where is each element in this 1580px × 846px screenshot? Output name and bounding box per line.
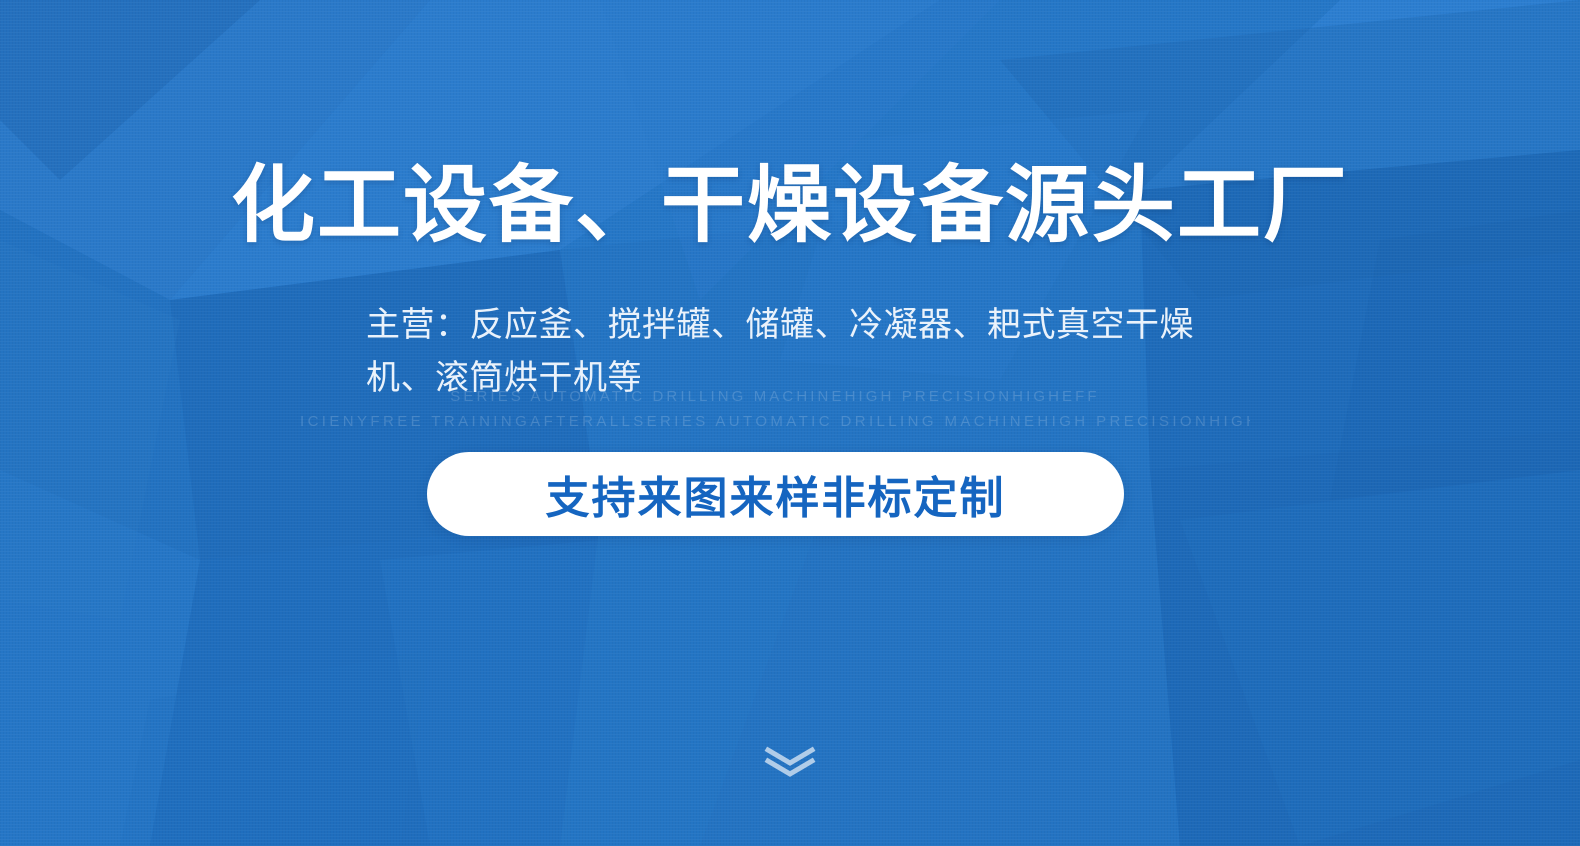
watermark-line-2: ICIENYFREE TRAININGAFTERALLSERIES AUTOMA… — [300, 409, 1250, 434]
page-title: 化工设备、干燥设备源头工厂 — [0, 160, 1580, 251]
banner-content: 化工设备、干燥设备源头工厂 主营：反应釜、搅拌罐、储罐、冷凝器、耙式真空干燥机、… — [0, 0, 1580, 846]
banner-subtitle: 主营：反应釜、搅拌罐、储罐、冷凝器、耙式真空干燥机、滚筒烘干机等 — [366, 299, 1216, 404]
chevron-double-down-icon — [764, 746, 816, 778]
custom-order-cta-button[interactable]: 支持来图来样非标定制 — [427, 452, 1124, 536]
hero-banner: 化工设备、干燥设备源头工厂 主营：反应釜、搅拌罐、储罐、冷凝器、耙式真空干燥机、… — [0, 0, 1580, 846]
scroll-down-button[interactable] — [762, 742, 818, 782]
